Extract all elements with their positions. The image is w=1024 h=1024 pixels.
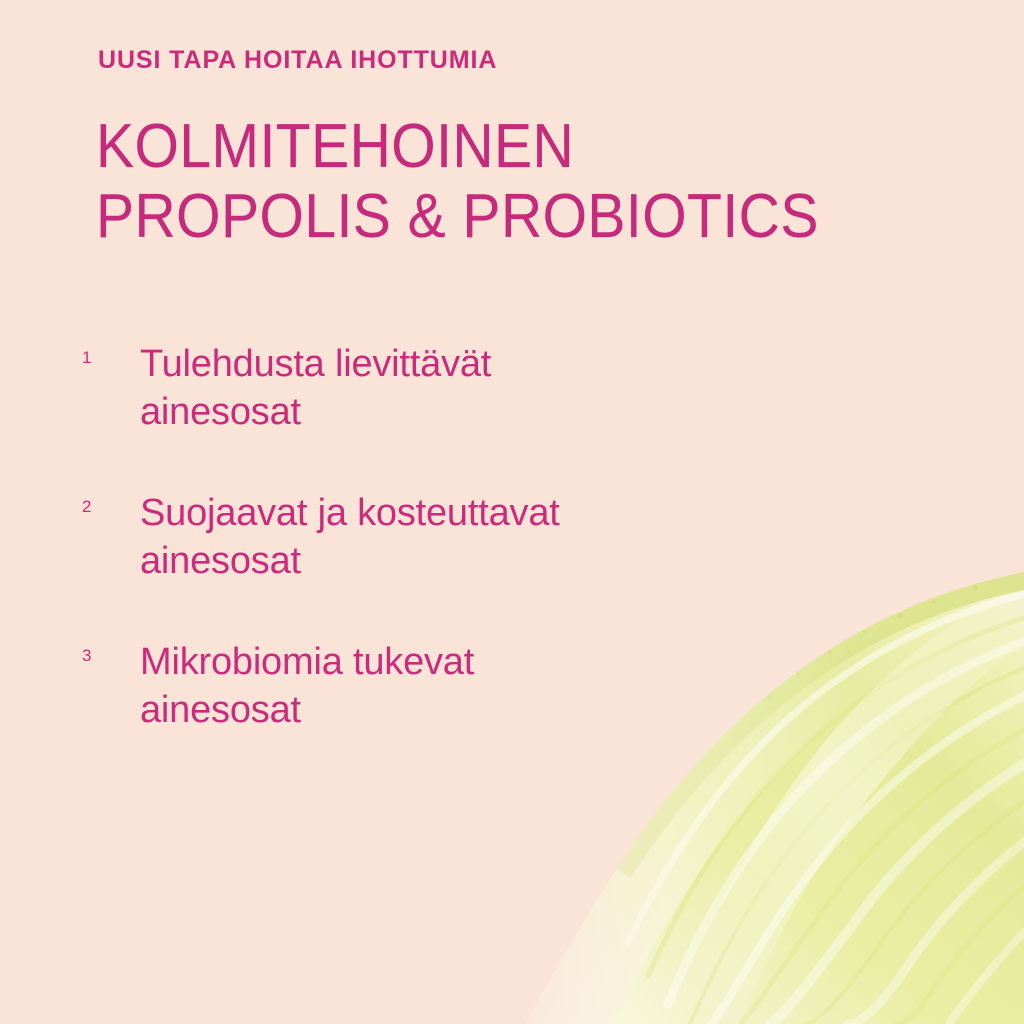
- list-item: 1 Tulehdusta lievittävät ainesosat: [0, 340, 640, 440]
- list-item: 2 Suojaavat ja kosteuttavat ainesosat: [0, 489, 640, 589]
- list-item: 3 Mikrobiomia tukevat ainesosat: [0, 638, 640, 738]
- page-title: KOLMITEHOINEN PROPOLIS & PROBIOTICS: [96, 112, 882, 252]
- list-item-number: 2: [82, 498, 91, 515]
- promo-slide: UUSI TAPA HOITAA IHOTTUMIA KOLMITEHOINEN…: [0, 0, 1024, 1024]
- list-item-label: Tulehdusta lievittävät ainesosat: [140, 340, 640, 436]
- list-item-label: Suojaavat ja kosteuttavat ainesosat: [140, 489, 640, 585]
- headline-line-2: PROPOLIS & PROBIOTICS: [96, 182, 819, 252]
- list-item-number: 1: [82, 349, 91, 366]
- list-item-number: 3: [82, 647, 91, 664]
- list-item-label: Mikrobiomia tukevat ainesosat: [140, 638, 640, 734]
- headline-line-1: KOLMITEHOINEN: [96, 112, 819, 182]
- content-column: UUSI TAPA HOITAA IHOTTUMIA KOLMITEHOINEN…: [0, 0, 1024, 1024]
- benefits-list: 1 Tulehdusta lievittävät ainesosat 2 Suo…: [0, 340, 640, 738]
- eyebrow-text: UUSI TAPA HOITAA IHOTTUMIA: [98, 46, 497, 75]
